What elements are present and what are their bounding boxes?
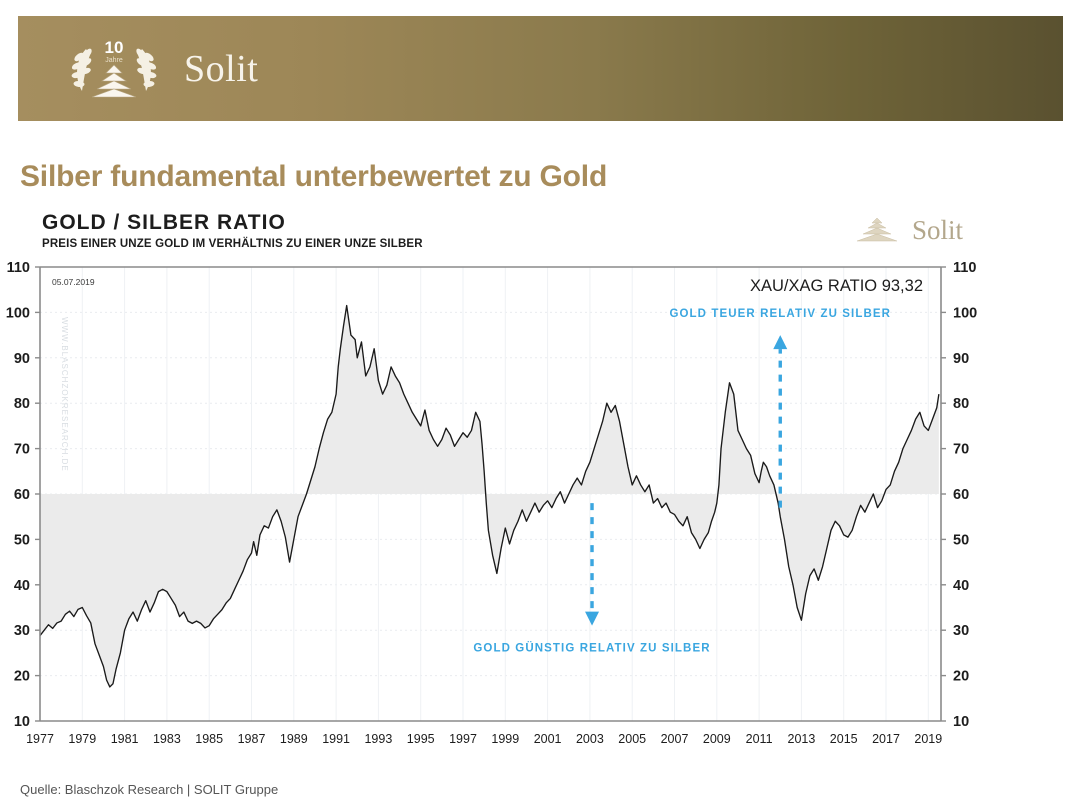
solit-wreath-pyramid-logo: 10 Jahre (66, 29, 162, 109)
arrow-down-icon (585, 612, 599, 626)
brand-wordmark: Solit (184, 50, 258, 88)
brand-header-band: 10 Jahre Solit (18, 16, 1063, 121)
x-axis-labels: 1977197919811983198519871989199119931995… (26, 732, 942, 746)
y-tick-label-left: 90 (14, 351, 30, 367)
y-tick-label-left: 50 (14, 532, 30, 548)
x-tick-label: 1999 (491, 732, 519, 746)
shaded-band-layer (40, 306, 939, 687)
y-tick-label-left: 60 (14, 487, 30, 503)
x-tick-label: 2009 (703, 732, 731, 746)
y-tick-label-right: 110 (953, 260, 976, 276)
x-tick-label: 1991 (322, 732, 350, 746)
x-tick-label: 2007 (661, 732, 689, 746)
x-tick-label: 2013 (788, 732, 816, 746)
y-tick-label-right: 100 (953, 305, 977, 321)
y-axis-labels-right: 110100908070605040302010 (953, 260, 977, 730)
x-tick-label: 1977 (26, 732, 54, 746)
y-tick-label-left: 110 (7, 260, 30, 276)
y-tick-label-left: 30 (14, 623, 30, 639)
chart-panel: GOLD / SILBER RATIO PREIS EINER UNZE GOL… (0, 205, 1081, 765)
x-tick-label: 2015 (830, 732, 858, 746)
y-tick-label-right: 30 (953, 623, 969, 639)
y-tick-label-left: 40 (14, 578, 30, 594)
page-title: Silber fundamental unterbewertet zu Gold (20, 160, 607, 194)
x-tick-label: 1983 (153, 732, 181, 746)
y-tick-label-right: 50 (953, 532, 969, 548)
pyramid-icon (854, 215, 900, 245)
x-tick-label: 2005 (618, 732, 646, 746)
ratio-value-label: XAU/XAG RATIO 93,32 (750, 277, 923, 295)
x-tick-label: 2019 (914, 732, 942, 746)
annotation-label: GOLD GÜNSTIG RELATIV ZU SILBER (473, 642, 710, 655)
y-axis-labels-left: 110100908070605040302010 (6, 260, 30, 730)
y-tick-label-right: 40 (953, 578, 969, 594)
plot-area: 110100908070605040302010 110100908070605… (0, 253, 1081, 763)
chart-heading: GOLD / SILBER RATIO PREIS EINER UNZE GOL… (42, 211, 423, 250)
date-stamp: 05.07.2019 (52, 277, 95, 287)
chart-brand-wordmark: Solit (912, 217, 963, 244)
source-note: Quelle: Blaschzok Research | SOLIT Grupp… (20, 782, 278, 797)
y-tick-label-right: 70 (953, 442, 969, 458)
anniversary-number: 10 (105, 38, 124, 57)
x-tick-label: 1981 (111, 732, 139, 746)
x-tick-label: 1997 (449, 732, 477, 746)
y-tick-label-right: 90 (953, 351, 969, 367)
chart-brand-logo: Solit (854, 215, 963, 245)
x-tick-label: 1985 (195, 732, 223, 746)
anniversary-label: Jahre (105, 57, 123, 64)
arrow-up-icon (773, 335, 787, 349)
annotation-layer: GOLD TEUER RELATIV ZU SILBERGOLD GÜNSTIG… (473, 308, 891, 655)
y-tick-label-right: 10 (953, 714, 969, 730)
y-tick-label-left: 100 (6, 305, 30, 321)
x-tick-label: 1993 (364, 732, 392, 746)
x-tick-label: 1989 (280, 732, 308, 746)
y-tick-label-left: 20 (14, 669, 30, 685)
annotation-label: GOLD TEUER RELATIV ZU SILBER (669, 308, 891, 320)
x-tick-label: 1995 (407, 732, 435, 746)
y-tick-label-left: 70 (14, 442, 30, 458)
y-tick-label-right: 60 (953, 487, 969, 503)
y-tick-label-right: 20 (953, 669, 969, 685)
x-tick-label: 2003 (576, 732, 604, 746)
ratio-line-chart: 110100908070605040302010 110100908070605… (0, 253, 1081, 763)
chart-subtitle: PREIS EINER UNZE GOLD IM VERHÄLTNIS ZU E… (42, 238, 423, 250)
watermark-text: WWW.BLASCHZOKRESEARCH.DE (60, 317, 69, 472)
y-tick-label-right: 80 (953, 396, 969, 412)
y-tick-label-left: 10 (14, 714, 30, 730)
x-tick-label: 2001 (534, 732, 562, 746)
chart-title: GOLD / SILBER RATIO (42, 211, 423, 235)
x-tick-label: 1979 (68, 732, 96, 746)
x-tick-label: 2017 (872, 732, 900, 746)
y-tick-label-left: 80 (14, 396, 30, 412)
x-tick-label: 2011 (746, 732, 773, 746)
x-tick-label: 1987 (238, 732, 266, 746)
